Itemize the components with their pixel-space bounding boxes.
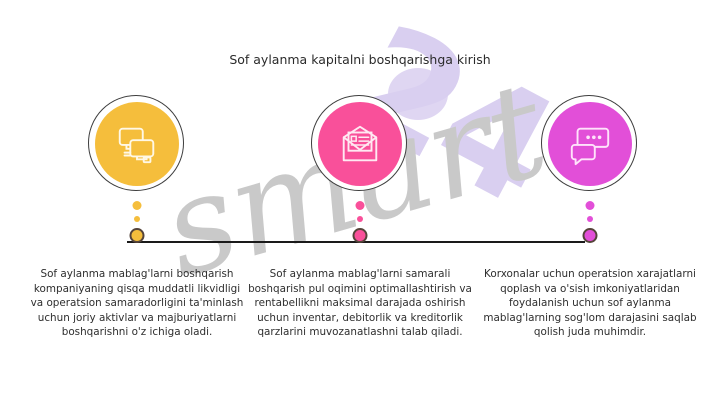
chat-bubbles-icon xyxy=(567,121,613,167)
step-column-1: Sof aylanma mablag'larni boshqarish komp… xyxy=(17,95,257,340)
step-dots-2 xyxy=(240,201,480,257)
step-caption-1: Sof aylanma mablag'larni boshqarish komp… xyxy=(17,267,257,340)
dot-small xyxy=(587,216,593,222)
dot-small xyxy=(357,216,363,222)
dot-large xyxy=(586,201,595,210)
timeline-node[interactable] xyxy=(353,228,368,243)
step-column-3: Korxonalar uchun operatsion xarajatlarni… xyxy=(470,95,710,340)
step-dots-3 xyxy=(470,201,710,257)
step-icon-badge-1[interactable] xyxy=(88,95,186,193)
step-dots-1 xyxy=(17,201,257,257)
step-icon-badge-3[interactable] xyxy=(541,95,639,193)
timeline-node[interactable] xyxy=(583,228,598,243)
slide-canvas: 24 smart Sof aylanma kapitalni boshqaris… xyxy=(0,0,720,406)
monitors-devices-icon xyxy=(114,121,160,167)
dot-large xyxy=(133,201,142,210)
timeline-node[interactable] xyxy=(130,228,145,243)
step-column-2: Sof aylanma mablag'larni samarali boshqa… xyxy=(240,95,480,340)
dot-small xyxy=(134,216,140,222)
dot-large xyxy=(356,201,365,210)
page-title: Sof aylanma kapitalni boshqarishga kiris… xyxy=(0,52,720,67)
step-caption-2: Sof aylanma mablag'larni samarali boshqa… xyxy=(240,267,480,340)
step-caption-3: Korxonalar uchun operatsion xarajatlarni… xyxy=(470,267,710,340)
envelope-letter-icon xyxy=(337,121,383,167)
step-icon-badge-2[interactable] xyxy=(311,95,409,193)
